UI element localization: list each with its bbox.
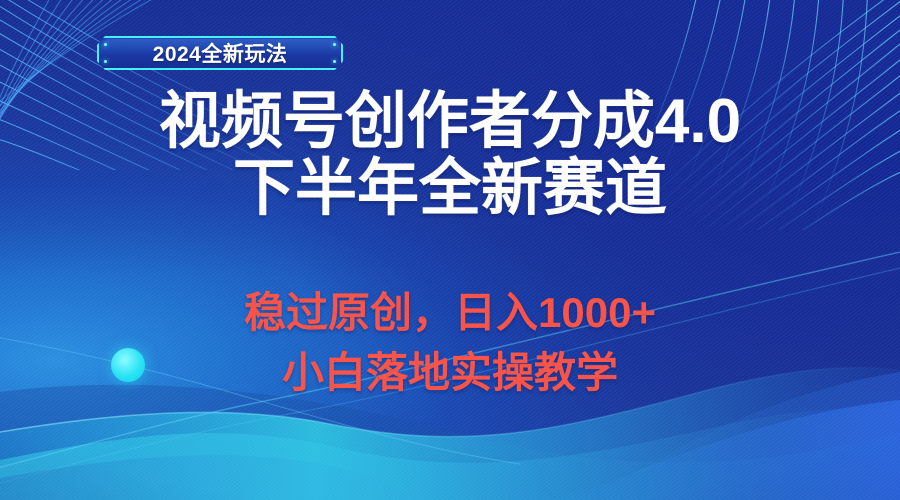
badge-label: 2024全新玩法: [97, 36, 343, 70]
subtitle-line-1: 稳过原创，日入1000+: [244, 289, 656, 336]
headline-line-1: 视频号创作者分成4.0: [159, 87, 741, 156]
vignette-overlay: [0, 0, 900, 500]
page-subtitle: 稳过原创，日入1000+ 小白落地实操教学: [0, 283, 900, 403]
headline-line-2: 下半年全新赛道: [0, 155, 900, 222]
page-title: 视频号创作者分成4.0 下半年全新赛道: [0, 88, 900, 222]
promo-badge: 2024全新玩法: [97, 36, 343, 70]
subtitle-line-2: 小白落地实操教学: [0, 343, 900, 403]
promo-poster: 2024全新玩法 视频号创作者分成4.0 下半年全新赛道 稳过原创，日入1000…: [0, 0, 900, 500]
